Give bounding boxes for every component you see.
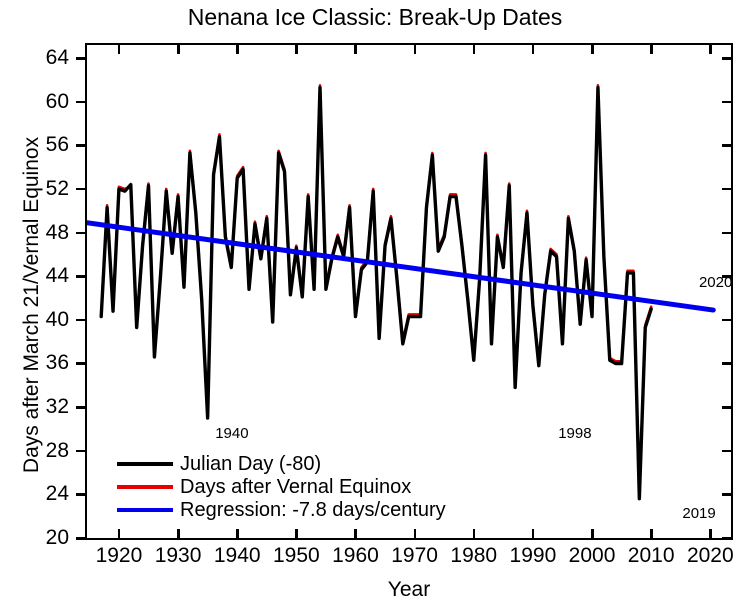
y-tick-label: 56 (23, 134, 69, 155)
y-tick-label: 48 (23, 222, 69, 243)
x-tick-top (650, 43, 653, 54)
x-tick (709, 529, 712, 540)
y-tick (76, 144, 87, 147)
y-tick-label: 64 (23, 47, 69, 68)
annotation-2020: 2020 (699, 275, 732, 290)
legend-swatch-red (117, 485, 173, 489)
x-tick-top (591, 43, 594, 54)
x-tick (295, 529, 298, 540)
annotation-2019: 2019 (682, 506, 715, 521)
legend-item-regression: Regression: -7.8 days/century (117, 498, 446, 521)
y-tick (76, 406, 87, 409)
x-tick-label: 2020 (675, 545, 745, 566)
y-tick (76, 319, 87, 322)
x-tick-top (414, 43, 417, 54)
legend-label-regression: Regression: -7.8 days/century (180, 500, 446, 520)
y-tick-inner-right (722, 188, 733, 191)
x-tick-top (473, 43, 476, 54)
y-tick-inner-right (722, 232, 733, 235)
y-tick-inner-right (722, 406, 733, 409)
y-tick-inner-right (722, 362, 733, 365)
y-tick-inner-right (722, 493, 733, 496)
y-tick (76, 275, 87, 278)
x-tick (414, 529, 417, 540)
y-axis-label-wrap: Days after March 21/Vernal Equinox (14, 43, 44, 540)
x-tick (532, 529, 535, 540)
y-tick-label: 20 (23, 527, 69, 548)
y-tick (76, 232, 87, 235)
x-tick (473, 529, 476, 540)
legend-swatch-blue (117, 508, 173, 512)
y-tick-label: 40 (23, 309, 69, 330)
y-tick-inner-right (722, 450, 733, 453)
x-axis-label: Year (85, 578, 733, 602)
y-tick-inner-right (722, 101, 733, 104)
x-tick-top (532, 43, 535, 54)
legend-swatch-black (117, 462, 173, 466)
y-tick-label: 32 (23, 396, 69, 417)
y-tick (76, 101, 87, 104)
x-tick-top (295, 43, 298, 54)
legend-item-days-after-equinox: Days after Vernal Equinox (117, 475, 446, 498)
x-tick-top (354, 43, 357, 54)
x-tick (354, 529, 357, 540)
x-tick-top (118, 43, 121, 54)
x-tick (177, 529, 180, 540)
y-tick-inner-right (722, 57, 733, 60)
x-tick-top (177, 43, 180, 54)
x-tick (118, 529, 121, 540)
y-tick-label: 60 (23, 91, 69, 112)
chart-container: Nenana Ice Classic: Break-Up Dates Days … (0, 0, 750, 615)
y-tick-label: 36 (23, 352, 69, 373)
y-tick-inner-right (722, 319, 733, 322)
y-tick-label: 52 (23, 178, 69, 199)
y-tick-label: 44 (23, 265, 69, 286)
y-tick (76, 450, 87, 453)
y-tick (76, 188, 87, 191)
legend-label-julian-day: Julian Day (-80) (180, 454, 321, 474)
legend-item-julian-day: Julian Day (-80) (117, 452, 446, 475)
y-tick (76, 537, 87, 540)
y-tick-inner-right (722, 144, 733, 147)
chart-title: Nenana Ice Classic: Break-Up Dates (0, 4, 750, 31)
x-tick (650, 529, 653, 540)
legend-label-days-after-equinox: Days after Vernal Equinox (180, 477, 411, 497)
y-tick-label: 24 (23, 483, 69, 504)
y-tick-label: 28 (23, 440, 69, 461)
annotation-1998: 1998 (558, 426, 591, 441)
legend: Julian Day (-80) Days after Vernal Equin… (117, 452, 446, 521)
x-tick-top (709, 43, 712, 54)
x-tick-top (236, 43, 239, 54)
y-tick (76, 57, 87, 60)
y-tick (76, 493, 87, 496)
y-tick (76, 362, 87, 365)
series-group (87, 85, 713, 498)
x-tick (236, 529, 239, 540)
x-tick (591, 529, 594, 540)
y-tick-inner-right (722, 537, 733, 540)
annotation-1940: 1940 (215, 426, 248, 441)
